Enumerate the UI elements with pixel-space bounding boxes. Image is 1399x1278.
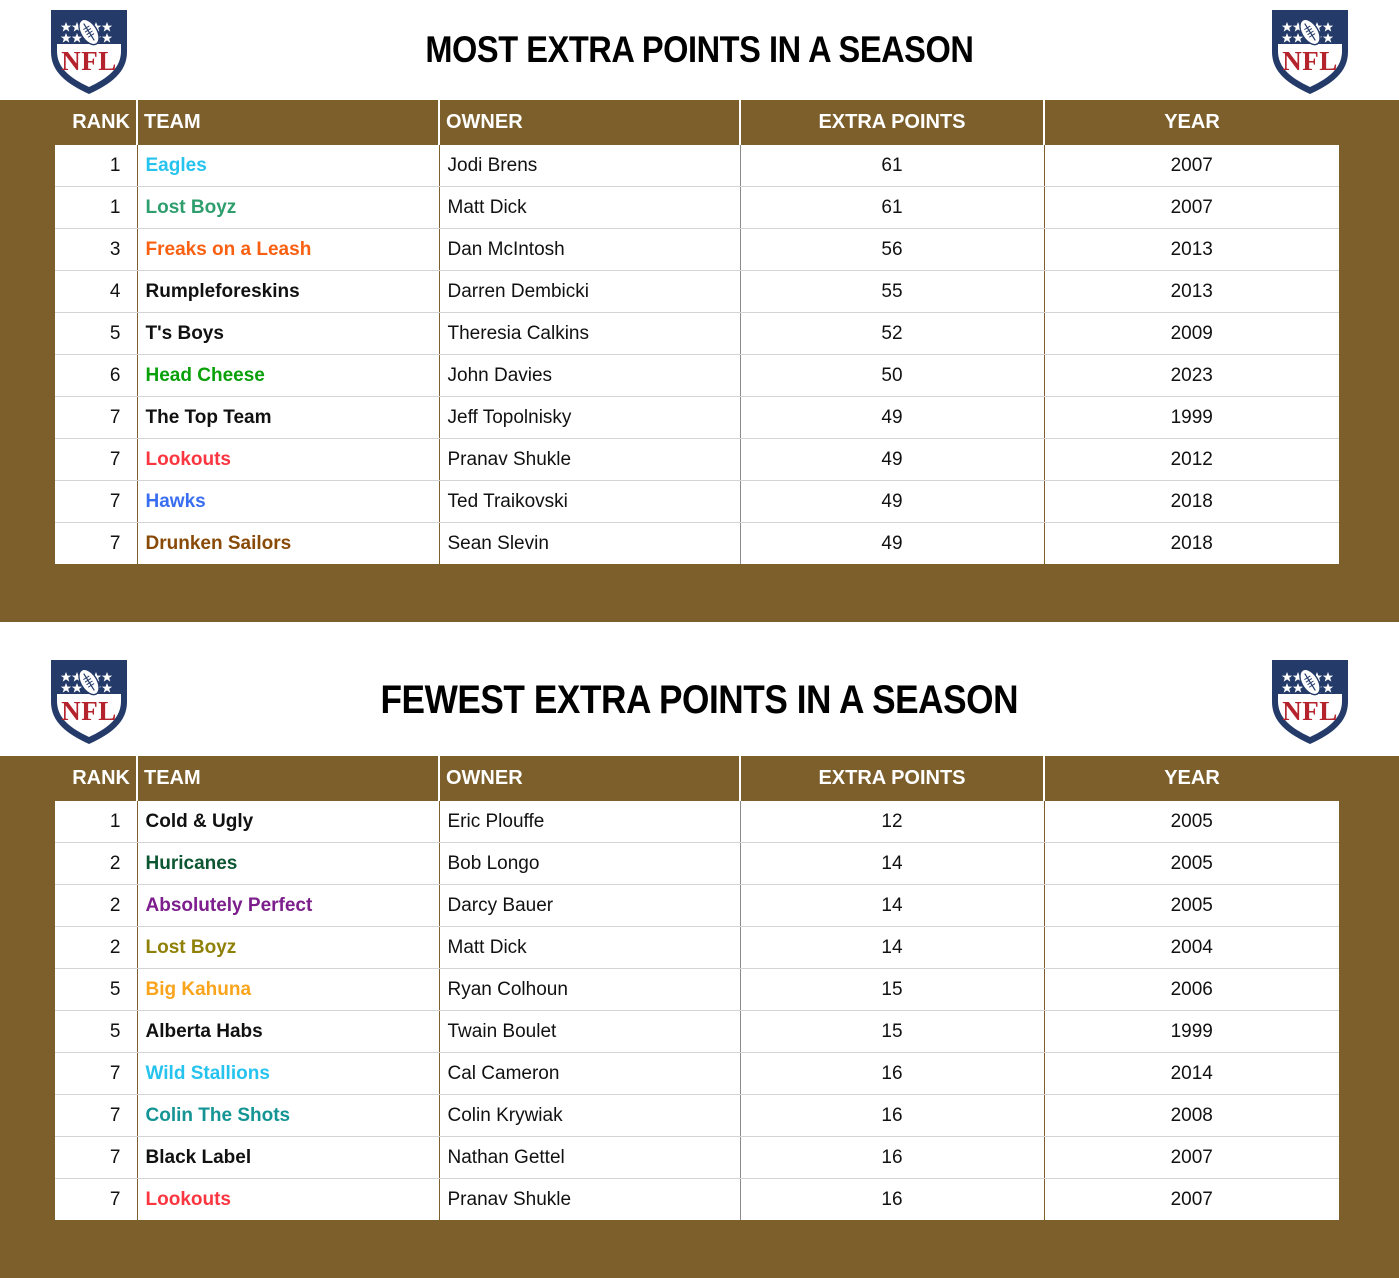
cell-owner: Colin Krywiak <box>439 1095 740 1137</box>
row-pad-cell <box>1339 397 1399 439</box>
page-title-most: MOST EXTRA POINTS IN A SEASON <box>425 29 973 71</box>
row-pad-cell <box>1339 885 1399 927</box>
row-pad-cell <box>1339 969 1399 1011</box>
cell-owner: John Davies <box>439 355 740 397</box>
cell-team: Lookouts <box>137 1179 439 1221</box>
cell-owner: Ryan Colhoun <box>439 969 740 1011</box>
cell-team: Rumpleforeskins <box>137 271 439 313</box>
column-header-points: EXTRA POINTS <box>740 756 1044 801</box>
row-pad-cell <box>1339 801 1399 843</box>
cell-year: 2007 <box>1044 187 1339 229</box>
cell-team: Black Label <box>137 1137 439 1179</box>
table-row[interactable]: 5Big KahunaRyan Colhoun152006 <box>0 969 1399 1011</box>
table-row[interactable]: 5T's BoysTheresia Calkins522009 <box>0 313 1399 355</box>
cell-points: 50 <box>740 355 1044 397</box>
row-pad-cell <box>1339 271 1399 313</box>
table-row[interactable]: 3Freaks on a LeashDan McIntosh562013 <box>0 229 1399 271</box>
column-header-rank: RANK <box>55 756 137 801</box>
cell-points: 14 <box>740 927 1044 969</box>
table-row[interactable]: 7Wild StallionsCal Cameron162014 <box>0 1053 1399 1095</box>
row-pad-cell <box>0 523 55 565</box>
row-pad-cell <box>1339 1053 1399 1095</box>
column-header-rank: RANK <box>55 100 137 145</box>
cell-team: Absolutely Perfect <box>137 885 439 927</box>
table-row[interactable]: 7The Top TeamJeff Topolnisky491999 <box>0 397 1399 439</box>
cell-rank: 7 <box>55 1179 137 1221</box>
table-header-fewest: RANK TEAM OWNER EXTRA POINTS YEAR <box>0 756 1399 801</box>
header-row: RANK TEAM OWNER EXTRA POINTS YEAR <box>0 100 1399 145</box>
cell-rank: 5 <box>55 313 137 355</box>
row-pad-cell <box>1339 1137 1399 1179</box>
row-pad-cell <box>1339 355 1399 397</box>
cell-year: 2007 <box>1044 145 1339 187</box>
cell-owner: Twain Boulet <box>439 1011 740 1053</box>
row-pad-cell <box>0 843 55 885</box>
cell-owner: Matt Dick <box>439 187 740 229</box>
cell-owner: Ted Traikovski <box>439 481 740 523</box>
cell-team: Lookouts <box>137 439 439 481</box>
cell-year: 2005 <box>1044 843 1339 885</box>
row-pad-cell <box>1339 927 1399 969</box>
cell-rank: 7 <box>55 481 137 523</box>
cell-points: 49 <box>740 481 1044 523</box>
row-pad-cell <box>0 439 55 481</box>
cell-team: Alberta Habs <box>137 1011 439 1053</box>
table-row[interactable]: 7LookoutsPranav Shukle492012 <box>0 439 1399 481</box>
cell-points: 52 <box>740 313 1044 355</box>
cell-points: 15 <box>740 969 1044 1011</box>
column-header-owner: OWNER <box>439 756 740 801</box>
cell-rank: 7 <box>55 1095 137 1137</box>
table-row[interactable]: 7HawksTed Traikovski492018 <box>0 481 1399 523</box>
cell-rank: 2 <box>55 843 137 885</box>
title-band-most: NFL MOST EXTRA POINTS IN A SEASON NFL <box>0 0 1399 100</box>
nfl-shield-logo: NFL <box>1266 4 1354 96</box>
cell-owner: Cal Cameron <box>439 1053 740 1095</box>
cell-year: 2006 <box>1044 969 1339 1011</box>
cell-points: 15 <box>740 1011 1044 1053</box>
cell-rank: 7 <box>55 1137 137 1179</box>
cell-owner: Eric Plouffe <box>439 801 740 843</box>
table-row[interactable]: 1EaglesJodi Brens612007 <box>0 145 1399 187</box>
row-pad-cell <box>0 1179 55 1221</box>
column-header-year: YEAR <box>1044 100 1339 145</box>
cell-points: 56 <box>740 229 1044 271</box>
cell-rank: 7 <box>55 397 137 439</box>
table-wrap-fewest: RANK TEAM OWNER EXTRA POINTS YEAR 1Cold … <box>0 756 1399 1278</box>
cell-year: 1999 <box>1044 1011 1339 1053</box>
cell-points: 49 <box>740 523 1044 565</box>
row-pad-cell <box>0 1095 55 1137</box>
cell-year: 2012 <box>1044 439 1339 481</box>
cell-year: 2005 <box>1044 885 1339 927</box>
cell-year: 2009 <box>1044 313 1339 355</box>
table-row[interactable]: 5Alberta HabsTwain Boulet151999 <box>0 1011 1399 1053</box>
table-header-most: RANK TEAM OWNER EXTRA POINTS YEAR <box>0 100 1399 145</box>
row-pad-cell <box>0 885 55 927</box>
cell-owner: Matt Dick <box>439 927 740 969</box>
svg-text:NFL: NFL <box>1282 46 1338 76</box>
row-pad-cell <box>1339 1179 1399 1221</box>
row-pad-cell <box>1339 145 1399 187</box>
cell-points: 16 <box>740 1179 1044 1221</box>
row-pad-cell <box>0 187 55 229</box>
table-wrap-most: RANK TEAM OWNER EXTRA POINTS YEAR 1Eagle… <box>0 100 1399 622</box>
cell-team: Cold & Ugly <box>137 801 439 843</box>
cell-rank: 6 <box>55 355 137 397</box>
nfl-shield-logo: NFL <box>45 654 133 746</box>
table-row[interactable]: 7Colin The ShotsColin Krywiak162008 <box>0 1095 1399 1137</box>
cell-points: 14 <box>740 885 1044 927</box>
table-row[interactable]: 1Cold & UglyEric Plouffe122005 <box>0 801 1399 843</box>
table-most-extra-points: RANK TEAM OWNER EXTRA POINTS YEAR 1Eagle… <box>0 100 1399 564</box>
table-row[interactable]: 7Drunken SailorsSean Slevin492018 <box>0 523 1399 565</box>
header-pad-cell <box>0 756 55 801</box>
cell-owner: Pranav Shukle <box>439 439 740 481</box>
column-header-team: TEAM <box>137 756 439 801</box>
nfl-shield-logo: NFL <box>45 4 133 96</box>
cell-rank: 2 <box>55 885 137 927</box>
row-pad-cell <box>0 801 55 843</box>
row-pad-cell <box>0 145 55 187</box>
cell-team: Big Kahuna <box>137 969 439 1011</box>
cell-rank: 7 <box>55 523 137 565</box>
cell-rank: 5 <box>55 969 137 1011</box>
row-pad-cell <box>0 1137 55 1179</box>
table-row[interactable]: 1Lost BoyzMatt Dick612007 <box>0 187 1399 229</box>
row-pad-cell <box>0 1011 55 1053</box>
cell-rank: 3 <box>55 229 137 271</box>
row-pad-cell <box>0 271 55 313</box>
section-most-extra-points: NFL MOST EXTRA POINTS IN A SEASON NFL <box>0 0 1399 622</box>
column-header-owner: OWNER <box>439 100 740 145</box>
table-row[interactable]: 7LookoutsPranav Shukle162007 <box>0 1179 1399 1221</box>
table-body-most: 1EaglesJodi Brens6120071Lost BoyzMatt Di… <box>0 145 1399 564</box>
cell-team: Colin The Shots <box>137 1095 439 1137</box>
cell-year: 1999 <box>1044 397 1339 439</box>
cell-team: Freaks on a Leash <box>137 229 439 271</box>
row-pad-cell <box>0 1053 55 1095</box>
section-fewest-extra-points: NFL FEWEST EXTRA POINTS IN A SEASON NFL <box>0 644 1399 1278</box>
cell-points: 12 <box>740 801 1044 843</box>
cell-year: 2007 <box>1044 1137 1339 1179</box>
row-pad-cell <box>1339 229 1399 271</box>
column-header-year: YEAR <box>1044 756 1339 801</box>
cell-rank: 1 <box>55 801 137 843</box>
table-row[interactable]: 6Head CheeseJohn Davies502023 <box>0 355 1399 397</box>
cell-owner: Theresia Calkins <box>439 313 740 355</box>
row-pad-cell <box>1339 187 1399 229</box>
row-pad-cell <box>1339 313 1399 355</box>
table-row[interactable]: 2Lost BoyzMatt Dick142004 <box>0 927 1399 969</box>
row-pad-cell <box>0 481 55 523</box>
cell-owner: Bob Longo <box>439 843 740 885</box>
table-body-fewest: 1Cold & UglyEric Plouffe1220052Huricanes… <box>0 801 1399 1220</box>
cell-owner: Pranav Shukle <box>439 1179 740 1221</box>
cell-owner: Dan McIntosh <box>439 229 740 271</box>
cell-rank: 4 <box>55 271 137 313</box>
table-fewest-extra-points: RANK TEAM OWNER EXTRA POINTS YEAR 1Cold … <box>0 756 1399 1220</box>
cell-team: Huricanes <box>137 843 439 885</box>
cell-year: 2018 <box>1044 481 1339 523</box>
cell-rank: 7 <box>55 439 137 481</box>
cell-owner: Jeff Topolnisky <box>439 397 740 439</box>
cell-year: 2007 <box>1044 1179 1339 1221</box>
cell-year: 2008 <box>1044 1095 1339 1137</box>
page-title-fewest: FEWEST EXTRA POINTS IN A SEASON <box>381 678 1019 723</box>
cell-owner: Darcy Bauer <box>439 885 740 927</box>
cell-owner: Jodi Brens <box>439 145 740 187</box>
cell-points: 61 <box>740 145 1044 187</box>
cell-points: 49 <box>740 439 1044 481</box>
cell-team: Head Cheese <box>137 355 439 397</box>
cell-team: Drunken Sailors <box>137 523 439 565</box>
row-pad-cell <box>0 313 55 355</box>
table-row[interactable]: 4RumpleforeskinsDarren Dembicki552013 <box>0 271 1399 313</box>
column-header-points: EXTRA POINTS <box>740 100 1044 145</box>
row-pad-cell <box>0 397 55 439</box>
cell-rank: 2 <box>55 927 137 969</box>
cell-year: 2013 <box>1044 271 1339 313</box>
section-divider <box>0 622 1399 644</box>
cell-team: Hawks <box>137 481 439 523</box>
cell-points: 61 <box>740 187 1044 229</box>
cell-owner: Nathan Gettel <box>439 1137 740 1179</box>
row-pad-cell <box>0 927 55 969</box>
cell-team: Eagles <box>137 145 439 187</box>
row-pad-cell <box>0 969 55 1011</box>
cell-points: 16 <box>740 1137 1044 1179</box>
cell-points: 55 <box>740 271 1044 313</box>
cell-owner: Darren Dembicki <box>439 271 740 313</box>
header-pad-cell <box>1339 756 1399 801</box>
cell-year: 2005 <box>1044 801 1339 843</box>
header-pad-cell <box>1339 100 1399 145</box>
cell-rank: 7 <box>55 1053 137 1095</box>
column-header-team: TEAM <box>137 100 439 145</box>
nfl-shield-logo: NFL <box>1266 654 1354 746</box>
title-band-fewest: NFL FEWEST EXTRA POINTS IN A SEASON NFL <box>0 644 1399 756</box>
svg-text:NFL: NFL <box>61 46 117 76</box>
row-pad-cell <box>0 229 55 271</box>
cell-points: 16 <box>740 1095 1044 1137</box>
cell-team: T's Boys <box>137 313 439 355</box>
cell-team: The Top Team <box>137 397 439 439</box>
header-pad-cell <box>0 100 55 145</box>
cell-points: 14 <box>740 843 1044 885</box>
cell-team: Wild Stallions <box>137 1053 439 1095</box>
cell-points: 49 <box>740 397 1044 439</box>
svg-text:NFL: NFL <box>61 696 117 726</box>
row-pad-cell <box>1339 481 1399 523</box>
header-row: RANK TEAM OWNER EXTRA POINTS YEAR <box>0 756 1399 801</box>
cell-rank: 1 <box>55 145 137 187</box>
row-pad-cell <box>1339 1095 1399 1137</box>
row-pad-cell <box>1339 523 1399 565</box>
svg-text:NFL: NFL <box>1282 696 1338 726</box>
row-pad-cell <box>0 355 55 397</box>
cell-rank: 5 <box>55 1011 137 1053</box>
cell-owner: Sean Slevin <box>439 523 740 565</box>
cell-year: 2013 <box>1044 229 1339 271</box>
cell-year: 2004 <box>1044 927 1339 969</box>
table-row[interactable]: 7Black LabelNathan Gettel162007 <box>0 1137 1399 1179</box>
row-pad-cell <box>1339 843 1399 885</box>
cell-rank: 1 <box>55 187 137 229</box>
row-pad-cell <box>1339 439 1399 481</box>
table-row[interactable]: 2HuricanesBob Longo142005 <box>0 843 1399 885</box>
cell-team: Lost Boyz <box>137 187 439 229</box>
table-row[interactable]: 2Absolutely PerfectDarcy Bauer142005 <box>0 885 1399 927</box>
cell-year: 2018 <box>1044 523 1339 565</box>
cell-year: 2023 <box>1044 355 1339 397</box>
cell-points: 16 <box>740 1053 1044 1095</box>
row-pad-cell <box>1339 1011 1399 1053</box>
cell-team: Lost Boyz <box>137 927 439 969</box>
cell-year: 2014 <box>1044 1053 1339 1095</box>
